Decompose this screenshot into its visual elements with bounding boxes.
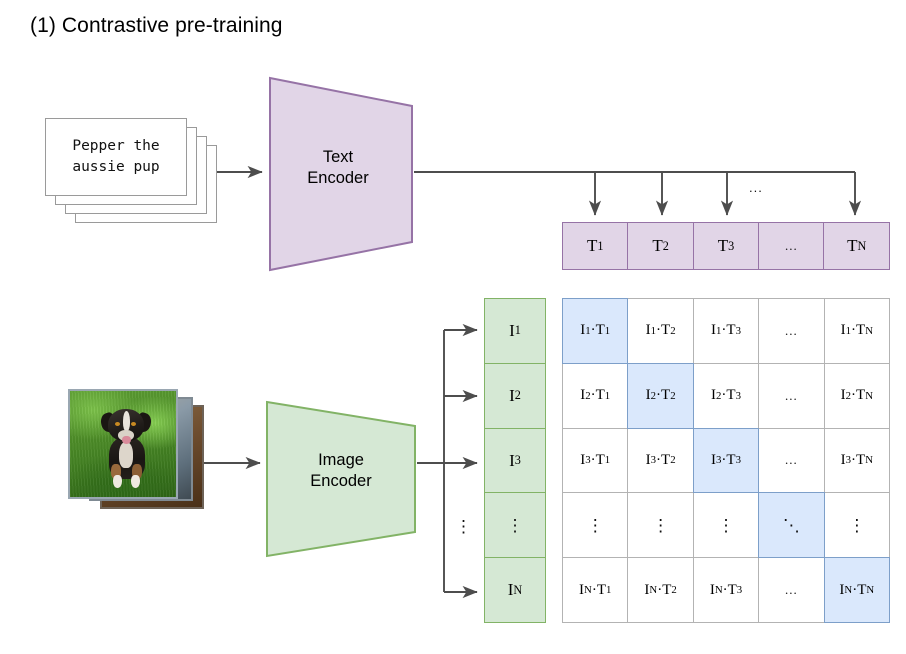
cell-text-base: T (596, 452, 605, 469)
embedding-subscript: N (857, 239, 866, 254)
embedding-subscript: N (513, 583, 522, 598)
embedding-subscript: 3 (515, 453, 521, 468)
matrix-cell-5-1: IN·T1 (562, 557, 628, 623)
matrix-cell-1-2: I1·T2 (627, 298, 693, 364)
cell-text-base: T (726, 322, 735, 339)
embedding-subscript: 1 (597, 239, 603, 254)
horizontal-ellipsis: ... (785, 582, 798, 598)
image-embedding-cell-3: I3 (484, 428, 546, 494)
cell-text-subscript: 3 (737, 584, 742, 596)
matrix-row: ⋮⋮⋮⋱⋮ (562, 492, 890, 558)
vertical-ellipsis: ⋮ (848, 517, 865, 534)
embedding-subscript: 3 (728, 239, 734, 254)
text-embedding-ellipsis: ... (758, 222, 825, 270)
puppy-illustration (100, 409, 154, 493)
vertical-ellipsis: ⋮ (587, 517, 604, 534)
text-encoder-shape[interactable] (268, 76, 414, 272)
ellipsis-glyph: ⋮ (507, 517, 524, 534)
cell-text-subscript: 3 (736, 390, 741, 402)
cell-text-base: T (856, 322, 865, 339)
cell-text-subscript: N (865, 390, 873, 402)
matrix-cell-4-4: ⋱ (758, 492, 824, 558)
embedding-subscript: 1 (515, 323, 521, 338)
cell-text-subscript: N (865, 325, 873, 337)
matrix-cell-5-2: IN·T2 (627, 557, 693, 623)
horizontal-ellipsis: ... (785, 452, 798, 468)
matrix-row: I1·T1I1·T2I1·T3...I1·TN (562, 298, 890, 364)
matrix-cell-5-5: IN·TN (824, 557, 890, 623)
text-embedding-cell-1: T1 (562, 222, 629, 270)
cell-text-base: T (856, 452, 865, 469)
matrix-cell-2-1: I2·T1 (562, 363, 628, 429)
cell-text-subscript: 2 (671, 584, 676, 596)
matrix-cell-1-5: I1·TN (824, 298, 890, 364)
cell-text-subscript: 1 (606, 584, 611, 596)
cell-image-subscript: N (715, 584, 723, 596)
matrix-row: IN·T1IN·T2IN·T3...IN·TN (562, 557, 890, 623)
matrix-cell-2-3: I2·T3 (693, 363, 759, 429)
embedding-subscript: 2 (663, 239, 669, 254)
matrix-cell-2-2: I2·T2 (627, 363, 693, 429)
text-embedding-cell-2: T2 (627, 222, 694, 270)
cell-text-base: T (726, 452, 735, 469)
ellipsis-glyph: ... (785, 238, 798, 254)
cell-image-subscript: N (844, 584, 852, 596)
image-embedding-ellipsis: ⋮ (484, 492, 546, 558)
cell-text-subscript: N (865, 454, 873, 466)
horizontal-ellipsis: ... (785, 323, 798, 339)
image-bus-ellipsis: ⋮ (455, 518, 472, 535)
text-embedding-cell-N: TN (823, 222, 890, 270)
matrix-cell-4-2: ⋮ (627, 492, 693, 558)
matrix-cell-1-4: ... (758, 298, 824, 364)
matrix-cell-4-1: ⋮ (562, 492, 628, 558)
cell-text-subscript: 3 (736, 325, 741, 337)
matrix-cell-1-3: I1·T3 (693, 298, 759, 364)
image-embedding-cell-2: I2 (484, 363, 546, 429)
cell-text-base: T (596, 387, 605, 404)
cell-text-base: T (661, 452, 670, 469)
cell-text-subscript: 2 (670, 454, 675, 466)
matrix-cell-3-5: I3·TN (824, 428, 890, 494)
text-card-front: Pepper the aussie pup (45, 118, 187, 196)
matrix-row: I2·T1I2·T2I2·T3...I2·TN (562, 363, 890, 429)
cell-text-base: T (728, 582, 737, 599)
cell-image-subscript: N (584, 584, 592, 596)
cell-text-subscript: 3 (736, 454, 741, 466)
matrix-cell-3-1: I3·T1 (562, 428, 628, 494)
matrix-cell-2-4: ... (758, 363, 824, 429)
cell-text-base: T (661, 387, 670, 404)
horizontal-ellipsis: ... (785, 388, 798, 404)
matrix-cell-4-5: ⋮ (824, 492, 890, 558)
vertical-ellipsis: ⋮ (718, 517, 735, 534)
cell-text-base: T (596, 322, 605, 339)
cell-text-subscript: 2 (670, 390, 675, 402)
matrix-row: I3·T1I3·T2I3·T3...I3·TN (562, 428, 890, 494)
image-embedding-cell-1: I1 (484, 298, 546, 364)
cell-text-subscript: 2 (670, 325, 675, 337)
text-bus-ellipsis: ... (749, 180, 763, 195)
cell-text-subscript: 1 (605, 390, 610, 402)
cell-text-base: T (726, 387, 735, 404)
matrix-cell-5-4: ... (758, 557, 824, 623)
cell-text-base: T (856, 387, 865, 404)
text-embedding-cell-3: T3 (693, 222, 760, 270)
image-embedding-cell-N: IN (484, 557, 546, 623)
diagonal-ellipsis: ⋱ (783, 517, 800, 534)
cell-image-subscript: N (649, 584, 657, 596)
image-encoder-shape[interactable] (265, 400, 417, 558)
cell-text-subscript: 1 (605, 454, 610, 466)
matrix-cell-5-3: IN·T3 (693, 557, 759, 623)
embedding-base: T (652, 236, 662, 256)
photo-front-puppy (68, 389, 178, 499)
matrix-cell-4-3: ⋮ (693, 492, 759, 558)
diagram-canvas: (1) Contrastive pre-training Pepper the … (0, 0, 906, 654)
embedding-base: T (847, 236, 857, 256)
text-embedding-row: T1T2T3...TN (562, 222, 890, 270)
matrix-cell-3-3: I3·T3 (693, 428, 759, 494)
embedding-subscript: 2 (515, 388, 521, 403)
page-title: (1) Contrastive pre-training (30, 14, 283, 38)
embedding-base: T (587, 236, 597, 256)
matrix-cell-1-1: I1·T1 (562, 298, 628, 364)
cell-text-subscript: 1 (605, 325, 610, 337)
similarity-matrix: I1·T1I1·T2I1·T3...I1·TNI2·T1I2·T2I2·T3..… (562, 298, 890, 623)
embedding-base: T (718, 236, 728, 256)
matrix-cell-3-2: I3·T2 (627, 428, 693, 494)
cell-text-base: T (597, 582, 606, 599)
matrix-cell-3-4: ... (758, 428, 824, 494)
image-embedding-column: I1I2I3⋮IN (484, 298, 546, 623)
cell-text-base: T (857, 582, 866, 599)
matrix-cell-2-5: I2·TN (824, 363, 890, 429)
cell-text-base: T (662, 582, 671, 599)
vertical-ellipsis: ⋮ (652, 517, 669, 534)
cell-text-base: T (661, 322, 670, 339)
cell-text-subscript: N (866, 584, 874, 596)
caption-text: Pepper the aussie pup (72, 136, 159, 178)
